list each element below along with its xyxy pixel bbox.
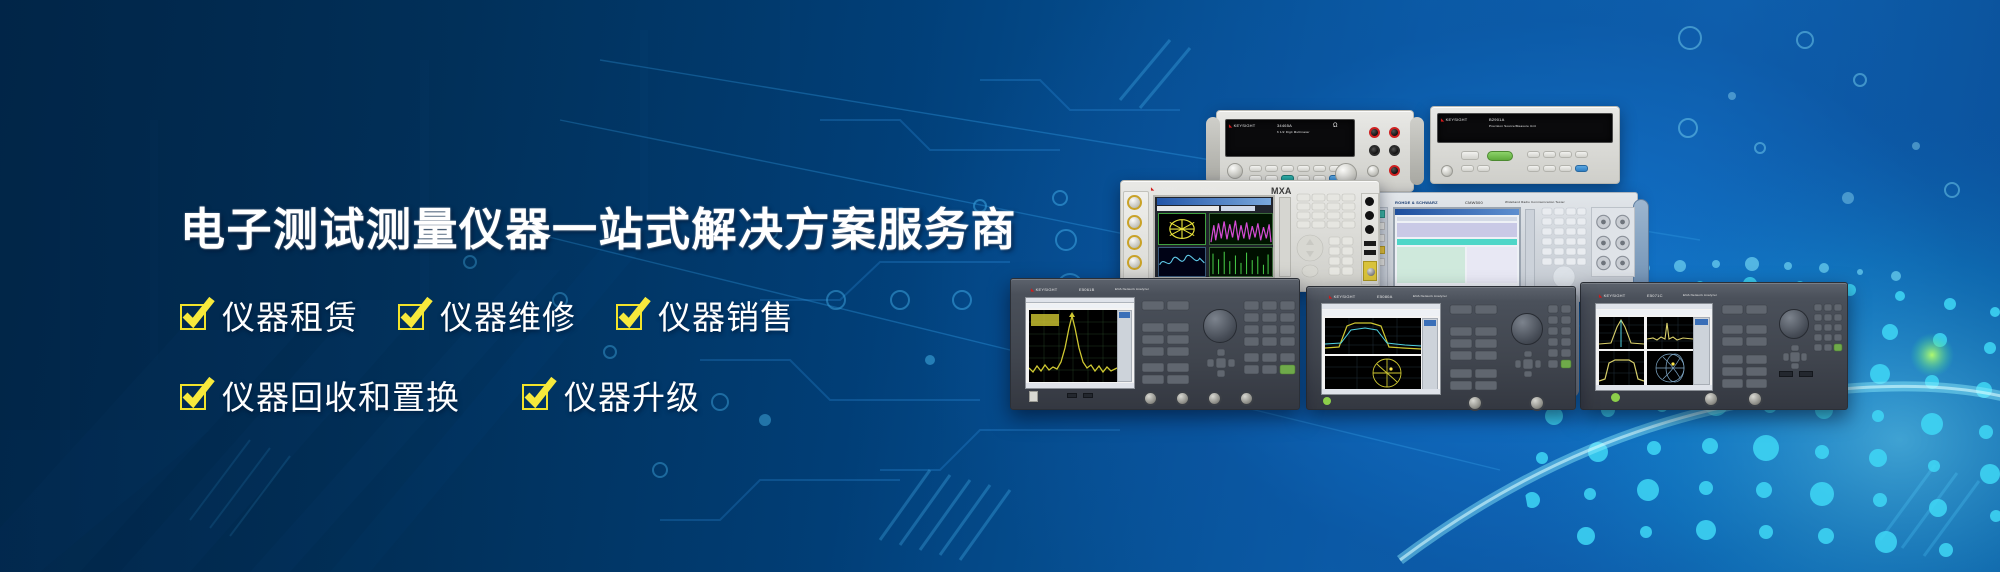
instrument-input-jack bbox=[1389, 127, 1400, 138]
instrument-brand-label: ◣ KEYSIGHT bbox=[1599, 293, 1625, 298]
instrument-test-port bbox=[1175, 391, 1190, 406]
instrument-rf-port-panel bbox=[1591, 207, 1635, 277]
instrument-softkey-strip bbox=[1279, 197, 1291, 277]
instrument-rf-connector bbox=[1127, 195, 1142, 210]
instrument-test-port bbox=[1467, 395, 1483, 411]
display-softkey-menu bbox=[1693, 317, 1710, 385]
instrument-cluster: ◣ KEYSIGHT 34465A 6 1/2 Digit Multimeter… bbox=[1020, 96, 2000, 516]
instrument-power-button bbox=[1367, 165, 1379, 177]
instrument-button bbox=[1461, 151, 1479, 160]
instrument-navigation-knob bbox=[1779, 309, 1809, 339]
instrument-test-port bbox=[1529, 395, 1545, 411]
instrument-badge-label: Ω bbox=[1333, 123, 1338, 129]
checkbox-checked-icon bbox=[398, 302, 427, 331]
instrument-navigation-knob bbox=[1511, 313, 1543, 345]
display-trace-plot bbox=[1029, 310, 1117, 382]
instrument-usb-port bbox=[1779, 371, 1793, 377]
instrument-usb-port bbox=[1799, 371, 1813, 377]
feature-label: 仪器回收和置换 bbox=[222, 371, 460, 419]
instrument-test-port bbox=[1143, 391, 1158, 406]
display-trace-waveform bbox=[1158, 247, 1206, 277]
instrument-usb-port bbox=[1364, 250, 1376, 255]
feature-label: 仪器销售 bbox=[658, 291, 794, 339]
instrument-brand-label: ◣ KEYSIGHT bbox=[1441, 117, 1467, 122]
page-title: 电子测试测量仪器一站式解决方案服务商 bbox=[180, 206, 1000, 253]
instrument-input-jack bbox=[1389, 145, 1400, 156]
instrument-usb-port bbox=[1083, 393, 1093, 398]
instrument-subtitle-label: Wideband Radio Communication Tester bbox=[1505, 200, 1565, 204]
chassis-handle-left bbox=[1206, 117, 1220, 184]
promo-banner: ◣ KEYSIGHT 34465A 6 1/2 Digit Multimeter… bbox=[0, 0, 2000, 572]
instrument-input-jack bbox=[1369, 145, 1380, 156]
instrument-test-port bbox=[1747, 391, 1763, 407]
instrument-numeric-keypad bbox=[1547, 303, 1573, 379]
display-trace-spectrum bbox=[1209, 213, 1273, 245]
instrument-button-row bbox=[1461, 165, 1490, 172]
instrument-brand-label: ◣ KEYSIGHT bbox=[1151, 186, 1177, 191]
display-softkey-menu bbox=[1117, 310, 1132, 382]
instrument-display bbox=[1595, 303, 1713, 391]
instrument-arrow-pad bbox=[1207, 349, 1235, 377]
instrument-subtitle-label: ENA Network Analyzer bbox=[1115, 287, 1149, 291]
instrument-brand-label: ROHDE & SCHWARZ bbox=[1395, 200, 1438, 205]
instrument-display bbox=[1025, 297, 1135, 389]
instrument-brand-label: ◣ KEYSIGHT bbox=[1031, 287, 1057, 292]
instrument-test-port bbox=[1703, 391, 1719, 407]
instrument-status-led bbox=[1611, 393, 1620, 402]
instrument-test-port bbox=[1207, 391, 1222, 406]
instrument-network-analyzer-center: ◣ KEYSIGHT E5080A ENA Network Analyzer bbox=[1306, 286, 1576, 410]
instrument-rf-connector bbox=[1127, 255, 1142, 270]
instrument-input-jack bbox=[1369, 127, 1380, 138]
instrument-usb-port bbox=[1364, 241, 1376, 246]
instrument-model-label: E5080A bbox=[1377, 294, 1392, 299]
instrument-display bbox=[1321, 303, 1441, 395]
display-menubar bbox=[1397, 217, 1517, 221]
instrument-numeric-keypad bbox=[1243, 297, 1297, 389]
chassis-handle-right bbox=[1633, 199, 1649, 294]
instrument-source-measure-unit-top-right: ◣ KEYSIGHT B2901A Precision Source/Measu… bbox=[1430, 106, 1620, 184]
display-titlebar bbox=[1395, 209, 1519, 215]
checkbox-checked-icon bbox=[180, 382, 209, 411]
instrument-input-jack bbox=[1389, 165, 1400, 176]
checkbox-checked-icon bbox=[522, 382, 551, 411]
chassis-handle-right bbox=[1410, 117, 1424, 184]
display-trace-plot-top bbox=[1325, 318, 1421, 354]
feature-row-1: 仪器租赁 仪器维修 仪器销售 bbox=[180, 291, 1000, 339]
instrument-rotary-knob bbox=[1227, 163, 1243, 179]
display-titlebar bbox=[1596, 304, 1712, 309]
instrument-subtitle-label: ENA Network Analyzer bbox=[1413, 294, 1447, 298]
instrument-rf-input-connector bbox=[1367, 268, 1375, 276]
instrument-power-button bbox=[1441, 165, 1453, 177]
display-menubar bbox=[1026, 304, 1134, 308]
instrument-rf-connector bbox=[1127, 235, 1142, 250]
feature-label: 仪器租赁 bbox=[222, 291, 358, 339]
instrument-softkey-strip bbox=[1525, 209, 1535, 287]
display-tree-panel bbox=[1397, 247, 1465, 283]
feature-instrument-rental[interactable]: 仪器租赁 bbox=[180, 291, 358, 339]
instrument-button-row bbox=[1249, 165, 1342, 172]
instrument-rf-connector bbox=[1127, 215, 1142, 230]
display-trace-plot-bottom bbox=[1325, 356, 1421, 390]
display-trace-quad-1 bbox=[1599, 317, 1644, 349]
instrument-keypad-left bbox=[1141, 297, 1201, 391]
instrument-model-label: E5071C bbox=[1647, 293, 1663, 298]
display-detail-panel bbox=[1467, 247, 1517, 283]
feature-instrument-upgrade[interactable]: 仪器升级 bbox=[522, 371, 700, 419]
instrument-on-button bbox=[1487, 151, 1513, 161]
instrument-navigation-knob bbox=[1203, 309, 1237, 343]
instrument-model-label: B2901A bbox=[1489, 117, 1504, 122]
display-titlebar bbox=[1026, 298, 1134, 303]
checkbox-checked-icon bbox=[616, 302, 645, 331]
feature-instrument-repair[interactable]: 仪器维修 bbox=[398, 291, 576, 339]
instrument-bnc-connector bbox=[1365, 225, 1374, 234]
display-table-region bbox=[1397, 223, 1517, 237]
display-toolbar bbox=[1322, 310, 1440, 316]
instrument-model-label: CMW500 bbox=[1465, 200, 1483, 205]
instrument-keypad bbox=[1541, 207, 1587, 291]
instrument-bnc-connector bbox=[1365, 211, 1374, 220]
display-toolbar bbox=[1596, 310, 1712, 315]
instrument-test-port bbox=[1239, 391, 1254, 406]
display-statusbar bbox=[1596, 385, 1712, 390]
display-toolbar bbox=[1221, 206, 1255, 211]
display-toolbar bbox=[1157, 206, 1219, 211]
instrument-subtitle-label: Precision Source/Measure Unit bbox=[1489, 124, 1536, 128]
instrument-rf-input-warning-panel bbox=[1363, 261, 1377, 281]
instrument-power-button bbox=[1029, 391, 1038, 402]
instrument-signal-analyzer-mxa: ◣ KEYSIGHT N9020A MXA Signal Analyzer MX… bbox=[1120, 180, 1380, 292]
display-trace-quad-4-smith-chart bbox=[1647, 351, 1693, 385]
instrument-keypad-left bbox=[1721, 303, 1777, 391]
display-statusbar bbox=[1322, 389, 1440, 394]
instrument-brand-label: ◣ KEYSIGHT bbox=[1329, 294, 1355, 299]
feature-instrument-sales[interactable]: 仪器销售 bbox=[616, 291, 794, 339]
instrument-subtitle-label: 6 1/2 Digit Multimeter bbox=[1277, 130, 1310, 134]
instrument-arrow-pad bbox=[1515, 351, 1541, 377]
display-trace-quad-2 bbox=[1647, 317, 1693, 349]
instrument-arrow-pad bbox=[1783, 345, 1807, 369]
instrument-usb-port bbox=[1067, 393, 1077, 398]
instrument-display bbox=[1153, 195, 1275, 279]
display-statusbar bbox=[1026, 383, 1134, 388]
instrument-model-label: 34465A bbox=[1277, 123, 1292, 128]
feature-label: 仪器维修 bbox=[440, 291, 576, 339]
display-trace-digital bbox=[1209, 247, 1273, 277]
display-titlebar bbox=[1322, 304, 1440, 309]
instrument-model-label: E5061B bbox=[1079, 287, 1094, 292]
instrument-bnc-connector bbox=[1365, 197, 1374, 206]
instrument-keypad-left bbox=[1449, 303, 1507, 395]
instrument-status-led bbox=[1323, 397, 1331, 405]
feature-row-2: 仪器回收和置换 仪器升级 bbox=[180, 371, 1000, 419]
instrument-display bbox=[1393, 207, 1521, 289]
display-trace-quad-3 bbox=[1599, 351, 1644, 385]
instrument-network-analyzer-right: ◣ KEYSIGHT E5071C ENA Network Analyzer bbox=[1580, 282, 1848, 410]
instrument-network-analyzer-left: ◣ KEYSIGHT E5061B ENA Network Analyzer bbox=[1010, 278, 1300, 410]
instrument-subtitle-label: ENA Network Analyzer bbox=[1683, 293, 1717, 297]
display-softkey-menu bbox=[1422, 318, 1438, 390]
instrument-button-row bbox=[1527, 165, 1588, 172]
feature-label: 仪器升级 bbox=[564, 371, 700, 419]
instrument-brand-label: ◣ KEYSIGHT bbox=[1229, 123, 1255, 128]
instrument-model-label: N9020A bbox=[1201, 186, 1217, 191]
display-trace-constellation bbox=[1158, 213, 1206, 245]
display-highlight-row bbox=[1397, 239, 1517, 245]
instrument-keypad bbox=[1296, 193, 1356, 283]
display-titlebar bbox=[1157, 198, 1271, 205]
feature-instrument-recycling-and-trade-in[interactable]: 仪器回收和置换 bbox=[180, 371, 460, 419]
checkbox-checked-icon bbox=[180, 302, 209, 331]
banner-text-block: 电子测试测量仪器一站式解决方案服务商 仪器租赁 仪器维修 bbox=[180, 206, 1000, 419]
instrument-button-row bbox=[1527, 151, 1588, 158]
instrument-numeric-keypad bbox=[1813, 303, 1845, 361]
